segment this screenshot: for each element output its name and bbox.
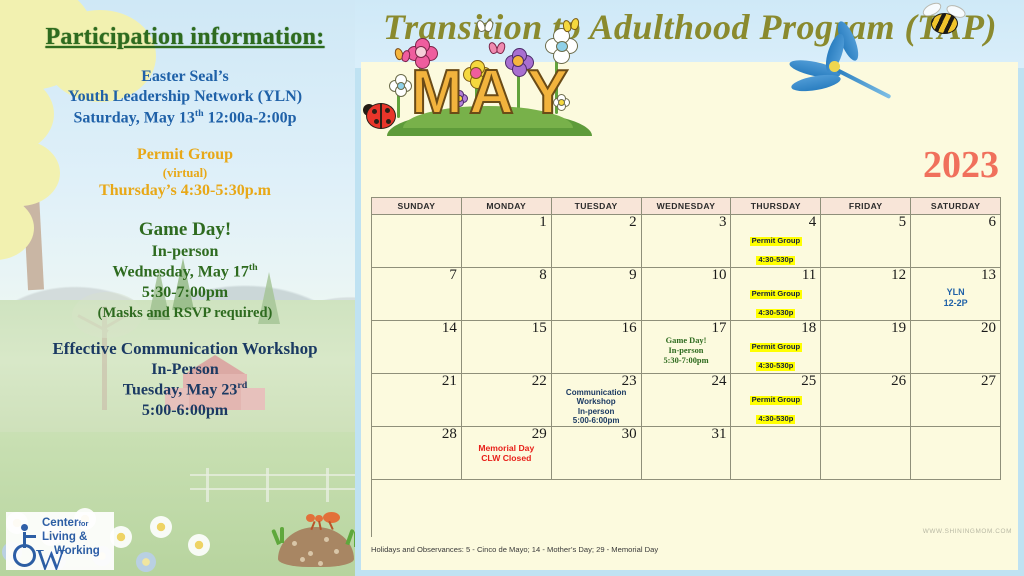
day-number: 15: [532, 321, 547, 337]
calendar-day-cell-9[interactable]: 9: [552, 268, 642, 321]
yln-line-2: Youth Leadership Network (YLN): [8, 87, 362, 107]
butterfly-white-icon: [477, 20, 495, 33]
calendar-day-cell-8[interactable]: 8: [462, 268, 552, 321]
event-yln[interactable]: YLN12-2P: [911, 287, 1000, 308]
calendar-day-cell-17[interactable]: 17Game Day!In-person5:30-7:00pm: [642, 321, 732, 374]
day-number: 20: [981, 321, 996, 337]
gameday-line-1: Game Day!: [8, 218, 362, 242]
day-number: 13: [981, 268, 996, 284]
calendar-day-cell-3[interactable]: 3: [642, 215, 732, 268]
weekday-header-thursday: THURSDAY: [731, 198, 821, 215]
event-line: 4:30-530p: [756, 362, 795, 371]
calendar-day-cell-27[interactable]: 27: [911, 374, 1001, 427]
gameday-line-4: 5:30-7:00pm: [8, 283, 362, 303]
day-number: 2: [629, 215, 637, 231]
calendar-week-row: 1234Permit Group4:30-530p56: [372, 215, 1001, 268]
calendar-day-cell-empty[interactable]: [821, 427, 911, 480]
day-number: 31: [711, 427, 726, 443]
day-number: 7: [449, 268, 457, 284]
participation-info-panel: Participation information: Easter Seal’s…: [0, 0, 370, 576]
weekday-header-saturday: SATURDAY: [911, 198, 1001, 215]
event-permit[interactable]: Permit Group4:30-530p: [731, 230, 820, 268]
event-line: YLN: [911, 287, 1000, 298]
comm-line-3: Tuesday, May 23rd: [8, 380, 362, 401]
event-line: Permit Group: [750, 290, 803, 299]
calendar-day-cell-15[interactable]: 15: [462, 321, 552, 374]
calendar-day-cell-empty[interactable]: [372, 215, 462, 268]
day-number: 12: [891, 268, 906, 284]
event-line: In-person: [552, 407, 641, 416]
clw-logo: Centerfor Living & Working W: [6, 512, 114, 570]
weekday-header-tuesday: TUESDAY: [552, 198, 642, 215]
info-block-yln: Easter Seal’s Youth Leadership Network (…: [8, 67, 362, 129]
weekday-header-wednesday: WEDNESDAY: [642, 198, 732, 215]
calendar-day-cell-21[interactable]: 21: [372, 374, 462, 427]
calendar-weeks: 1234Permit Group4:30-530p567891011Permit…: [372, 215, 1001, 480]
day-number: 27: [981, 374, 996, 390]
info-block-communication: Effective Communication Workshop In-Pers…: [8, 338, 362, 421]
event-mem[interactable]: Memorial DayCLW Closed: [462, 443, 551, 463]
watermark: WWW.SHININGMOM.COM: [923, 528, 1012, 535]
calendar-day-cell-16[interactable]: 16: [552, 321, 642, 374]
dragonfly-icon: [785, 28, 903, 106]
weekday-header-row: SUNDAYMONDAYTUESDAYWEDNESDAYTHURSDAYFRID…: [372, 198, 1001, 215]
calendar-day-cell-22[interactable]: 22: [462, 374, 552, 427]
year-label: 2023: [923, 143, 999, 187]
gameday-line-2: In-person: [8, 242, 362, 262]
yln-line-1: Easter Seal’s: [8, 67, 362, 87]
calendar-week-row: 2829Memorial DayCLW Closed3031: [372, 427, 1001, 480]
day-number: 17: [711, 321, 726, 337]
holidays-observances-note: Holidays and Observances: 5 - Cinco de M…: [371, 545, 658, 554]
event-gameday[interactable]: Game Day!In-person5:30-7:00pm: [642, 336, 731, 366]
permit-line-1: Permit Group: [8, 145, 362, 165]
calendar-day-cell-25[interactable]: 25Permit Group4:30-530p: [731, 374, 821, 427]
calendar-day-cell-empty[interactable]: [911, 427, 1001, 480]
butterfly-yellow-icon: [563, 18, 581, 31]
calendar-day-cell-6[interactable]: 6: [911, 215, 1001, 268]
yln-line-3: Saturday, May 13th 12:00a-2:00p: [8, 108, 362, 129]
calendar-grid: SUNDAYMONDAYTUESDAYWEDNESDAYTHURSDAYFRID…: [371, 197, 1001, 537]
day-number: 29: [532, 427, 547, 443]
day-number: 18: [801, 321, 816, 337]
day-number: 10: [711, 268, 726, 284]
bee-icon: [922, 4, 968, 38]
calendar-day-cell-29[interactable]: 29Memorial DayCLW Closed: [462, 427, 552, 480]
day-number: 22: [532, 374, 547, 390]
may-letter-y: Y: [527, 62, 568, 124]
event-comm[interactable]: CommunicationWorkshopIn-person5:00-6:00p…: [552, 388, 641, 426]
permit-line-3: Thursday’s 4:30-5:30p.m: [8, 181, 362, 201]
calendar-day-cell-5[interactable]: 5: [821, 215, 911, 268]
calendar-day-cell-10[interactable]: 10: [642, 268, 732, 321]
ladybug-icon: [363, 100, 397, 130]
event-line: 4:30-530p: [756, 415, 795, 424]
calendar-day-cell-12[interactable]: 12: [821, 268, 911, 321]
calendar-day-cell-28[interactable]: 28: [372, 427, 462, 480]
event-permit[interactable]: Permit Group4:30-530p: [731, 283, 820, 321]
event-line: Communication: [552, 388, 641, 397]
gameday-line-3: Wednesday, May 17th: [8, 262, 362, 283]
calendar-day-cell-4[interactable]: 4Permit Group4:30-530p: [731, 215, 821, 268]
day-number: 11: [802, 268, 816, 284]
day-number: 5: [899, 215, 907, 231]
event-line: 12-2P: [911, 298, 1000, 309]
page-title: Participation information:: [8, 24, 362, 51]
logo-line-1-small: for: [78, 519, 88, 528]
day-number: 4: [809, 215, 817, 231]
may-letter-a: A: [469, 62, 514, 124]
event-permit[interactable]: Permit Group4:30-530p: [731, 389, 820, 427]
event-line: In-person: [642, 346, 731, 356]
event-line: Permit Group: [750, 343, 803, 352]
calendar-day-cell-23[interactable]: 23CommunicationWorkshopIn-person5:00-6:0…: [552, 374, 642, 427]
calendar-day-cell-14[interactable]: 14: [372, 321, 462, 374]
day-number: 21: [442, 374, 457, 390]
weekday-header-monday: MONDAY: [462, 198, 552, 215]
calendar-week-row: 7891011Permit Group4:30-530p1213YLN12-2P: [372, 268, 1001, 321]
wheelchair-person-icon: [12, 524, 38, 566]
day-number: 6: [989, 215, 997, 231]
calendar-day-cell-13[interactable]: 13YLN12-2P: [911, 268, 1001, 321]
comm-line-4: 5:00-6:00pm: [8, 401, 362, 421]
calendar-day-cell-30[interactable]: 30: [552, 427, 642, 480]
event-line: 4:30-530p: [756, 256, 795, 265]
event-line: CLW Closed: [462, 453, 551, 463]
day-number: 8: [539, 268, 547, 284]
calendar-day-cell-1[interactable]: 1: [462, 215, 552, 268]
permit-line-2: (virtual): [8, 165, 362, 181]
event-line: Permit Group: [750, 237, 803, 246]
comm-line-2: In-Person: [8, 360, 362, 380]
calendar-day-cell-2[interactable]: 2: [552, 215, 642, 268]
weekday-header-friday: FRIDAY: [821, 198, 911, 215]
info-block-gameday: Game Day! In-person Wednesday, May 17th …: [8, 218, 362, 323]
logo-monogram: W: [36, 542, 65, 570]
event-line: Permit Group: [750, 396, 803, 405]
calendar-week-row: 14151617Game Day!In-person5:30-7:00pm18P…: [372, 321, 1001, 374]
butterfly-pink-icon: [489, 42, 507, 55]
day-number: 30: [622, 427, 637, 443]
event-permit[interactable]: Permit Group4:30-530p: [731, 336, 820, 374]
day-number: 26: [891, 374, 906, 390]
day-number: 28: [442, 427, 457, 443]
info-block-permit: Permit Group (virtual) Thursday’s 4:30-5…: [8, 145, 362, 202]
calendar-day-cell-26[interactable]: 26: [821, 374, 911, 427]
day-number: 25: [801, 374, 816, 390]
calendar-day-cell-24[interactable]: 24: [642, 374, 732, 427]
may-floral-artwork: M A Y: [377, 12, 607, 142]
calendar-day-cell-18[interactable]: 18Permit Group4:30-530p: [731, 321, 821, 374]
calendar-day-cell-19[interactable]: 19: [821, 321, 911, 374]
day-number: 14: [442, 321, 457, 337]
day-number: 3: [719, 215, 727, 231]
may-letter-m: M: [411, 62, 463, 124]
gameday-line-5: (Masks and RSVP required): [8, 304, 362, 323]
calendar-panel: Transition to Adulthood Program (TAP) 20…: [355, 0, 1024, 576]
event-line: 4:30-530p: [756, 309, 795, 318]
day-number: 19: [891, 321, 906, 337]
day-number: 9: [629, 268, 637, 284]
calendar-day-cell-7[interactable]: 7: [372, 268, 462, 321]
day-number: 1: [539, 215, 547, 231]
calendar-week-row: 212223CommunicationWorkshopIn-person5:00…: [372, 374, 1001, 427]
event-line: 5:00-6:00pm: [552, 416, 641, 425]
calendar-day-cell-20[interactable]: 20: [911, 321, 1001, 374]
calendar-day-cell-31[interactable]: 31: [642, 427, 732, 480]
day-number: 16: [622, 321, 637, 337]
calendar-day-cell-11[interactable]: 11Permit Group4:30-530p: [731, 268, 821, 321]
event-line: Memorial Day: [462, 443, 551, 453]
weekday-header-sunday: SUNDAY: [372, 198, 462, 215]
event-line: 5:30-7:00pm: [642, 356, 731, 366]
event-line: Workshop: [552, 397, 641, 406]
logo-line-1: Center: [42, 517, 78, 529]
day-number: 24: [711, 374, 726, 390]
comm-line-1: Effective Communication Workshop: [8, 338, 362, 360]
event-line: Game Day!: [642, 336, 731, 346]
calendar-day-cell-empty[interactable]: [731, 427, 821, 480]
